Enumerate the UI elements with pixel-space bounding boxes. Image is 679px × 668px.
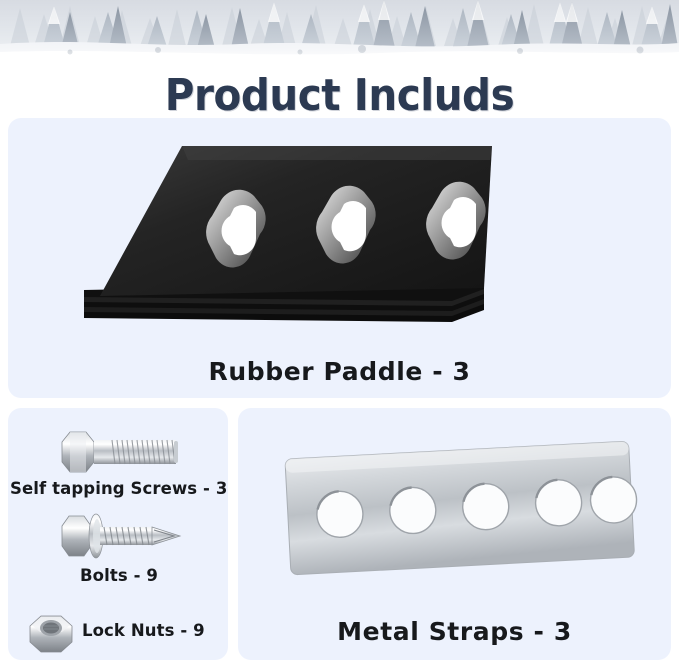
self-tapping-screws-label: Self tapping Screws - 3 xyxy=(10,479,227,498)
hex-washer-head-self-drilling-screw-image xyxy=(54,508,194,564)
page-title: Product Includs xyxy=(27,72,652,118)
hex-bolt-image xyxy=(56,426,186,476)
card-fasteners: Self tapping Screws - 3 Bolts - 9 xyxy=(8,408,228,660)
snowy-forest-banner xyxy=(0,0,679,72)
card-rubber-paddle: Rubber Paddle - 3 xyxy=(8,118,671,398)
infographic-page: Product Includs xyxy=(0,0,679,668)
metal-straps-label: Metal Straps - 3 xyxy=(238,617,671,646)
hex-lock-nut-image xyxy=(22,612,84,658)
card-metal-straps: Metal Straps - 3 xyxy=(238,408,671,660)
lock-nuts-label: Lock Nuts - 9 xyxy=(82,621,205,640)
bolts-label: Bolts - 9 xyxy=(80,566,158,585)
metal-strap-image xyxy=(280,438,640,588)
rubber-paddle-label: Rubber Paddle - 3 xyxy=(8,357,671,386)
rubber-paddle-stack-image xyxy=(82,140,602,340)
